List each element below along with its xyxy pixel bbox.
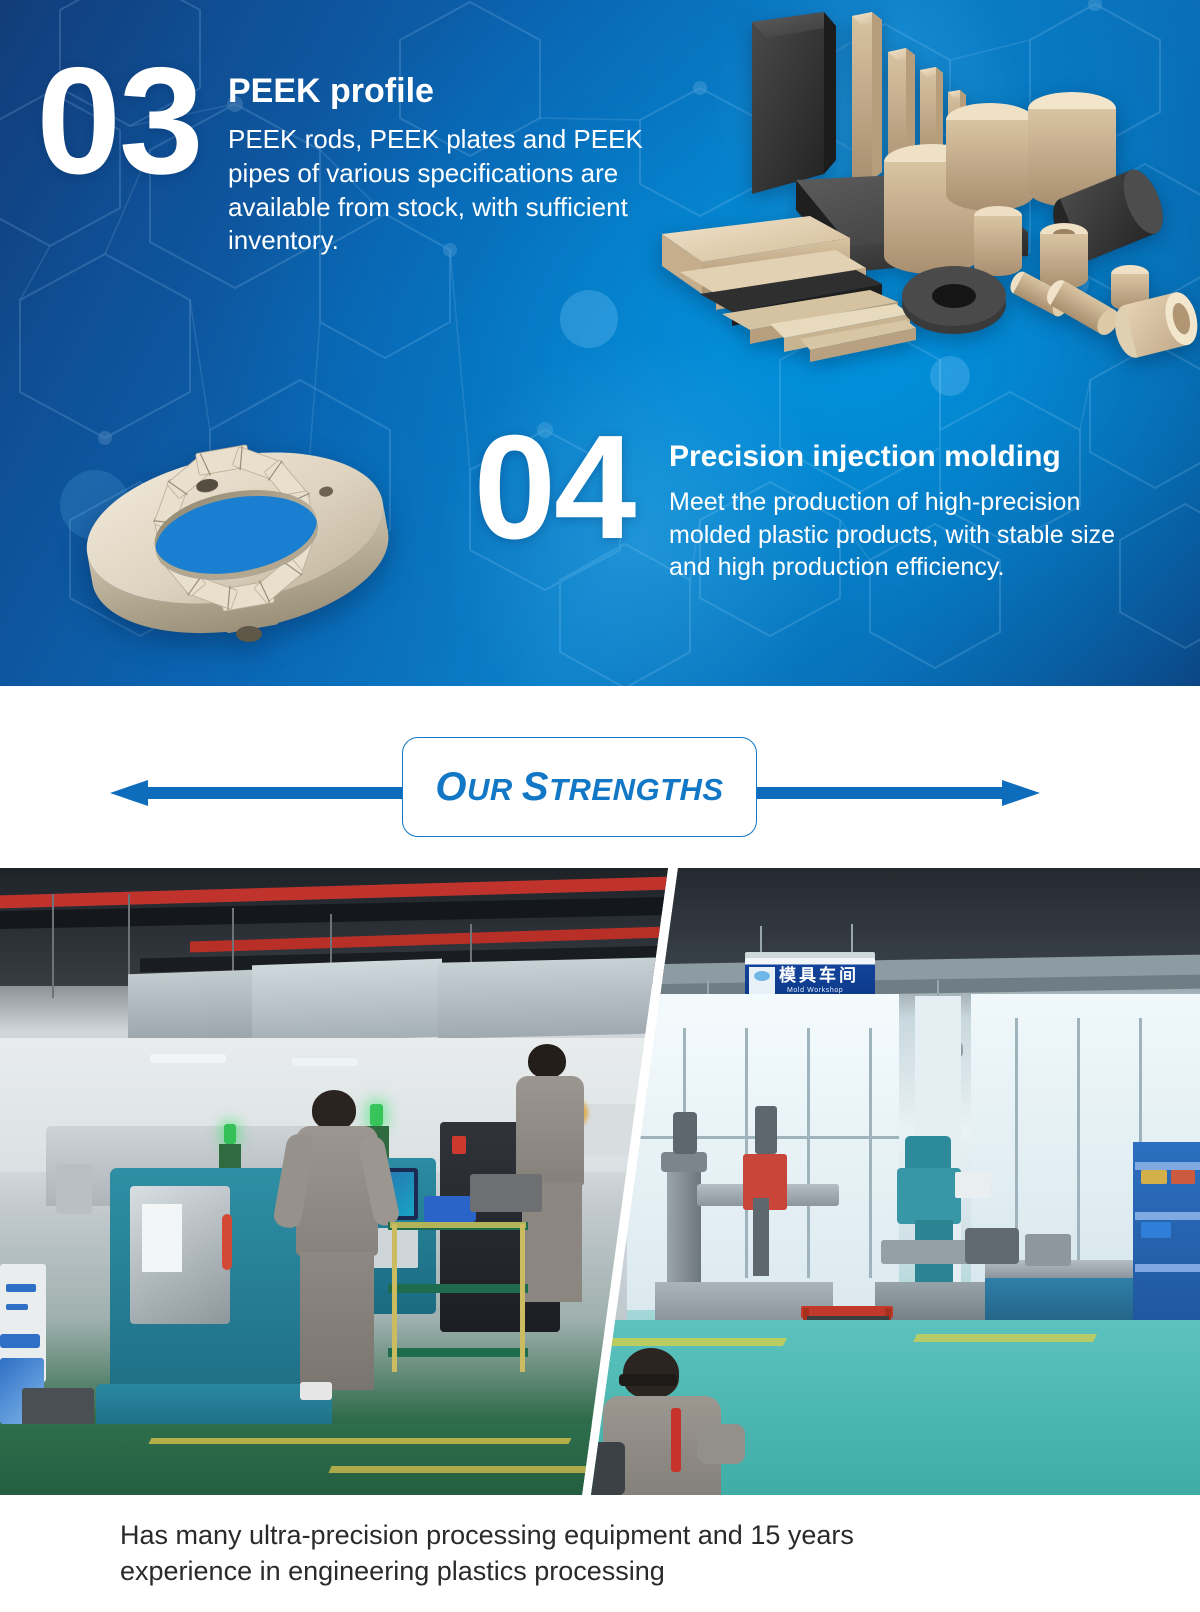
strengths-lead-s: S: [522, 765, 549, 809]
strengths-label-box: OUR STRENGTHS: [402, 737, 757, 837]
caption-line-1: Has many ultra-precision processing equi…: [120, 1517, 1080, 1553]
strengths-rest-1: UR: [467, 772, 522, 807]
bottom-caption: Has many ultra-precision processing equi…: [0, 1495, 1200, 1612]
caption-line-2: experience in engineering plastics proce…: [120, 1553, 1080, 1589]
feature-body-04: Meet the production of high-precision mo…: [669, 486, 1153, 584]
feature-title-04: Precision injection molding: [669, 440, 1153, 474]
feature-item-04: 04 Precision injection molding Meet the …: [455, 424, 1153, 584]
photo-cnc-machining-workshop: [0, 868, 668, 1495]
strengths-rest-2: TRENGTHS: [549, 772, 724, 807]
peek-gear-ring-photo: [20, 378, 450, 673]
feature-item-03: 03 PEEK profile PEEK rods, PEEK plates a…: [24, 56, 644, 258]
feature-title-03: PEEK profile: [228, 72, 644, 111]
feature-number-04: 04: [455, 424, 653, 551]
photo-mold-workshop: 模具车间 Mold Workshop: [585, 868, 1200, 1495]
peek-stock-shapes-photo: [660, 0, 1200, 364]
features-blue-panel: 03 PEEK profile PEEK rods, PEEK plates a…: [0, 0, 1200, 686]
feature-number-03: 03: [24, 56, 214, 187]
workshop-photo-pair: 模具车间 Mold Workshop: [0, 868, 1200, 1495]
mold-workshop-sign: 模具车间 Mold Workshop: [745, 958, 875, 998]
strengths-lead-o: O: [435, 765, 467, 809]
bokeh-dot-1: [560, 290, 618, 348]
feature-body-03: PEEK rods, PEEK plates and PEEK pipes of…: [228, 123, 644, 258]
mold-workshop-sign-cn: 模具车间: [779, 967, 859, 984]
mold-workshop-sign-en: Mold Workshop: [787, 987, 843, 994]
strengths-label: OUR STRENGTHS: [435, 765, 723, 810]
